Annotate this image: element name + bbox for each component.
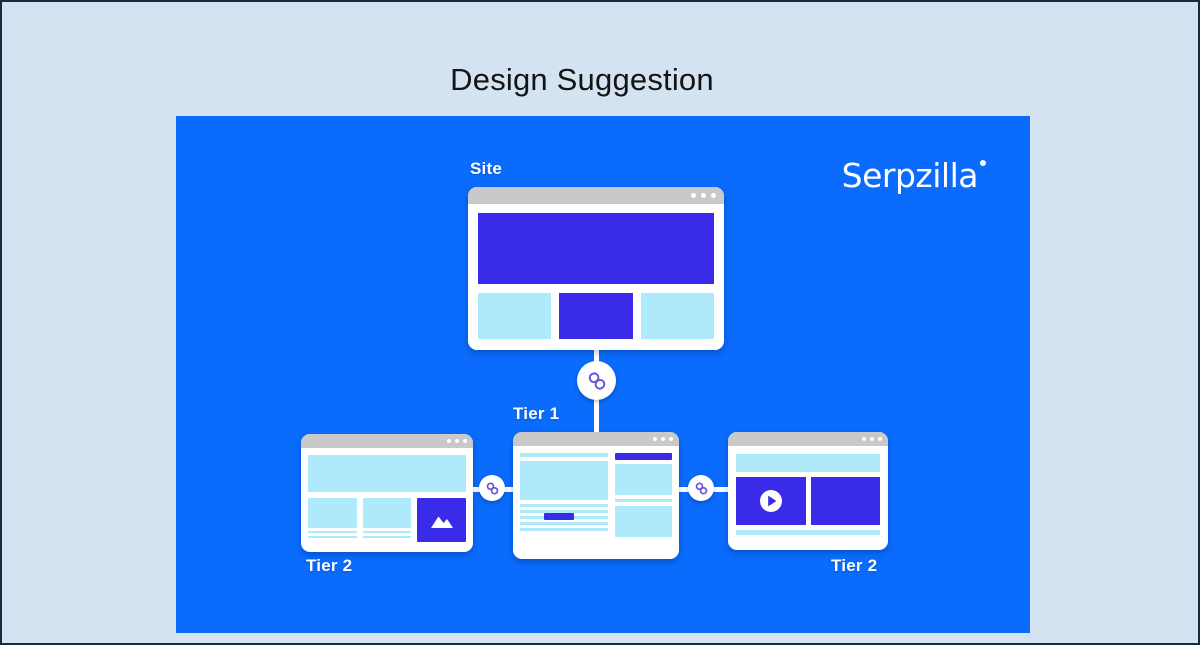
text-line <box>363 536 412 538</box>
tier2-left-window-card <box>301 434 473 552</box>
tier1-sidebar-box-b <box>615 506 672 537</box>
tier2-right-media-row <box>736 477 880 525</box>
window-dot-icon <box>447 439 451 443</box>
window-dot-icon <box>661 437 665 441</box>
window-dot-icon <box>653 437 657 441</box>
tier1-text-lines <box>520 504 608 531</box>
node-label-tier2-left: Tier 2 <box>306 556 352 576</box>
window-dot-icon <box>870 437 874 441</box>
tier1-right-column <box>615 453 672 549</box>
site-hero-block <box>478 213 714 284</box>
text-line <box>520 528 608 531</box>
site-window-card <box>468 187 724 350</box>
text-line <box>520 504 608 507</box>
site-block-right <box>641 293 714 339</box>
diagram-panel: Serpzilla Site <box>176 116 1030 633</box>
window-dot-icon <box>691 193 696 198</box>
window-body <box>468 204 724 350</box>
text-line <box>736 530 880 535</box>
serpzilla-logo: Serpzilla <box>842 156 986 195</box>
text-line <box>615 499 672 502</box>
tier1-sidebar-bar <box>615 453 672 460</box>
page-title: Design Suggestion <box>2 62 1162 98</box>
tier2-left-cell <box>308 498 357 542</box>
text-line <box>363 531 412 533</box>
window-dot-icon <box>701 193 706 198</box>
brand-name: Serpzilla <box>842 156 978 195</box>
content-block <box>363 498 412 528</box>
chain-link-icon <box>577 361 616 400</box>
tier1-sidebar-box-a <box>615 464 672 495</box>
window-dot-icon <box>669 437 673 441</box>
window-titlebar <box>513 432 679 446</box>
text-line <box>520 522 608 525</box>
tier1-window-card <box>513 432 679 559</box>
tier1-left-column <box>520 453 608 549</box>
window-titlebar <box>728 432 888 446</box>
node-label-tier1: Tier 1 <box>513 404 559 424</box>
window-titlebar <box>468 187 724 204</box>
window-dot-icon <box>463 439 467 443</box>
tier1-headline-line <box>520 453 608 457</box>
site-block-row <box>478 293 714 339</box>
tier2-right-banner <box>736 454 880 472</box>
site-block-left <box>478 293 551 339</box>
screenshot-canvas: Design Suggestion Serpzilla Site <box>0 0 1200 645</box>
window-titlebar <box>301 434 473 448</box>
node-label-tier2-right: Tier 2 <box>831 556 877 576</box>
text-line <box>308 531 357 533</box>
window-dot-icon <box>455 439 459 443</box>
chain-link-icon <box>479 475 505 501</box>
window-dot-icon <box>862 437 866 441</box>
tier2-right-block <box>811 477 881 525</box>
play-button-icon <box>736 477 806 525</box>
tier2-left-cell <box>363 498 412 542</box>
tier2-left-columns <box>308 498 466 542</box>
window-body <box>513 446 679 556</box>
text-line <box>308 536 357 538</box>
tier2-left-banner <box>308 455 466 492</box>
window-body <box>728 446 888 547</box>
window-body <box>301 448 473 549</box>
content-block <box>308 498 357 528</box>
node-label-site: Site <box>470 159 502 179</box>
superscript-dot-icon <box>980 160 986 166</box>
tier1-cta-block <box>544 513 574 520</box>
tier2-right-window-card <box>728 432 888 550</box>
site-block-center <box>559 293 632 339</box>
image-placeholder-icon <box>417 498 466 542</box>
tier1-hero-block <box>520 461 608 500</box>
chain-link-icon <box>688 475 714 501</box>
window-dot-icon <box>878 437 882 441</box>
window-dot-icon <box>711 193 716 198</box>
